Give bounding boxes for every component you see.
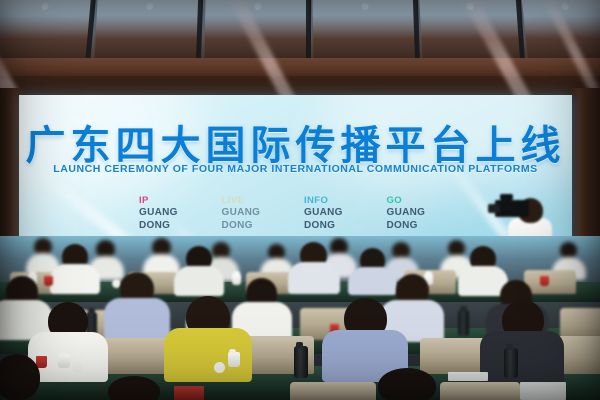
chair <box>524 270 576 294</box>
document <box>448 372 488 381</box>
brand-tag: GO <box>387 195 470 207</box>
thermos <box>458 310 469 336</box>
brand-line2: DONG <box>387 220 470 233</box>
brand-line2: DONG <box>139 220 222 233</box>
red-cup <box>174 386 204 400</box>
brand-line2: DONG <box>304 220 387 233</box>
teacup <box>232 274 241 285</box>
brand-tag: LIVE <box>222 195 305 207</box>
camera-lens <box>488 204 500 213</box>
ceiling <box>0 0 600 96</box>
brand-item-info: INFO GUANG DONG <box>304 195 387 232</box>
photo-scene: 广东四大国际传播平台上线 LAUNCH CEREMONY OF FOUR MAJ… <box>0 0 600 400</box>
chair <box>440 382 520 400</box>
thermos <box>294 346 308 378</box>
brand-line1: GUANG <box>304 207 387 220</box>
brand-line2: DONG <box>222 220 305 233</box>
teacup <box>58 354 70 368</box>
brand-tag: IP <box>139 195 222 207</box>
brand-item-go: GO GUANG DONG <box>387 195 470 232</box>
camera-viewfinder <box>500 194 513 200</box>
table-ball <box>72 362 83 373</box>
teacup <box>228 352 240 367</box>
thermos <box>504 348 518 378</box>
chair <box>290 382 376 400</box>
brand-item-live: LIVE GUANG DONG <box>222 195 305 232</box>
brand-line1: GUANG <box>222 207 305 220</box>
screen-title-english: LAUNCH CEREMONY OF FOUR MAJOR INTERNATIO… <box>19 163 572 175</box>
audience-area <box>0 236 600 400</box>
document <box>520 382 566 400</box>
brand-tag: INFO <box>304 195 387 207</box>
brand-line1: GUANG <box>139 207 222 220</box>
brand-line1: GUANG <box>387 207 470 220</box>
video-camera <box>495 200 529 217</box>
table-ball <box>214 362 225 373</box>
red-cup <box>44 276 53 286</box>
brand-list: IP GUANG DONG LIVE GUANG DONG INFO GUANG… <box>139 195 469 232</box>
chair <box>100 338 170 374</box>
brand-item-ip: IP GUANG DONG <box>139 195 222 232</box>
red-cup <box>540 276 549 286</box>
